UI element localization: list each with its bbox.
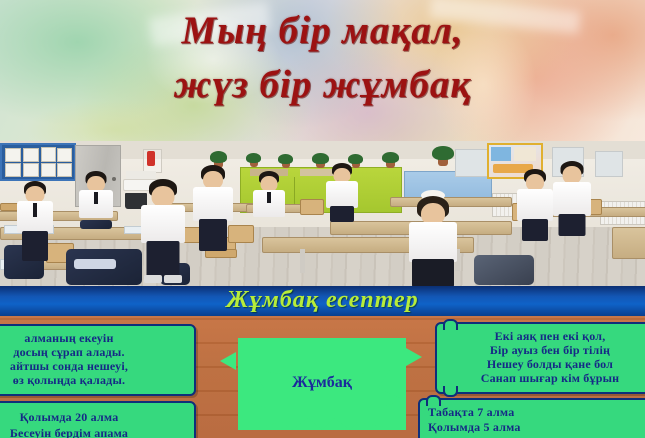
callout-line: Бір ауыз бен бір тілің (437, 343, 645, 358)
callout-line: досың сұрап алады. (0, 345, 194, 360)
callout-line: Табақта 7 алма (428, 405, 514, 420)
callout-nub-icon (443, 386, 458, 397)
student (516, 169, 554, 245)
potted-plant (246, 153, 261, 163)
callout-line: алманың екеуін (0, 331, 194, 346)
banner-title-line2: жүз бір жұмбақ (0, 58, 645, 112)
potted-plant (432, 146, 454, 160)
callout-top-right[interactable]: Екі аяқ пен екі қол, Бір ауыз бен бір ті… (435, 322, 645, 394)
callout-top-left[interactable]: алманың екеуін досың сұрап алады. айтшы … (0, 324, 196, 396)
callout-line: өз қолыңда қалады. (0, 373, 194, 388)
student (192, 165, 234, 261)
desk (612, 227, 645, 259)
wall-panel (595, 151, 623, 177)
potted-plant (278, 154, 293, 164)
potted-plant (382, 152, 399, 163)
slide-header-title: Жұмбақ есептер (0, 286, 645, 315)
riddle-slide: Жұмбақ есептер Жұмбақ алманың екеуін дос… (0, 286, 645, 438)
classroom-photo (0, 141, 645, 286)
potted-plant (210, 151, 227, 163)
callout-line: Қолымда 5 алма (428, 420, 521, 435)
chair (300, 199, 324, 215)
desk-leg (300, 249, 305, 273)
student (552, 161, 592, 241)
backpack (474, 255, 534, 285)
fire-extinguisher-icon (147, 151, 155, 166)
banner-title: Мың бір мақал, жүз бір жұмбақ (0, 4, 645, 112)
callout-line: Қолымда 20 алма (0, 410, 194, 425)
student (325, 163, 359, 233)
callout-line: Нешеу болды қане бол (437, 357, 645, 372)
callout-bottom-left[interactable]: Қолымда 20 алма Бесеуін бердім апама (0, 401, 196, 438)
callout-line: Санап шығар кім бұрын (437, 371, 645, 386)
student (252, 171, 286, 235)
callout-line: Бесеуін бердім апама (0, 426, 194, 438)
arrow-right (406, 348, 422, 366)
backpack-logo (74, 259, 116, 269)
banner-title-line1: Мың бір мақал, (0, 4, 645, 58)
center-star-label: Жұмбақ (238, 374, 406, 392)
slide-collage: Мың бір мақал, жүз бір жұмбақ (0, 0, 645, 438)
callout-line: айтшы сонда нешеуі, (0, 359, 194, 374)
title-banner: Мың бір мақал, жүз бір жұмбақ (0, 0, 645, 141)
student (78, 171, 114, 241)
arrow-left (220, 352, 236, 370)
student (140, 179, 186, 285)
bulletin-board (0, 143, 76, 181)
callout-bottom-right[interactable]: Табақта 7 алма Қолымда 5 алма Барлығын қ… (418, 398, 645, 438)
student (16, 181, 54, 269)
callout-line: Екі аяқ пен екі қол, (437, 329, 645, 344)
student-front (408, 193, 458, 285)
